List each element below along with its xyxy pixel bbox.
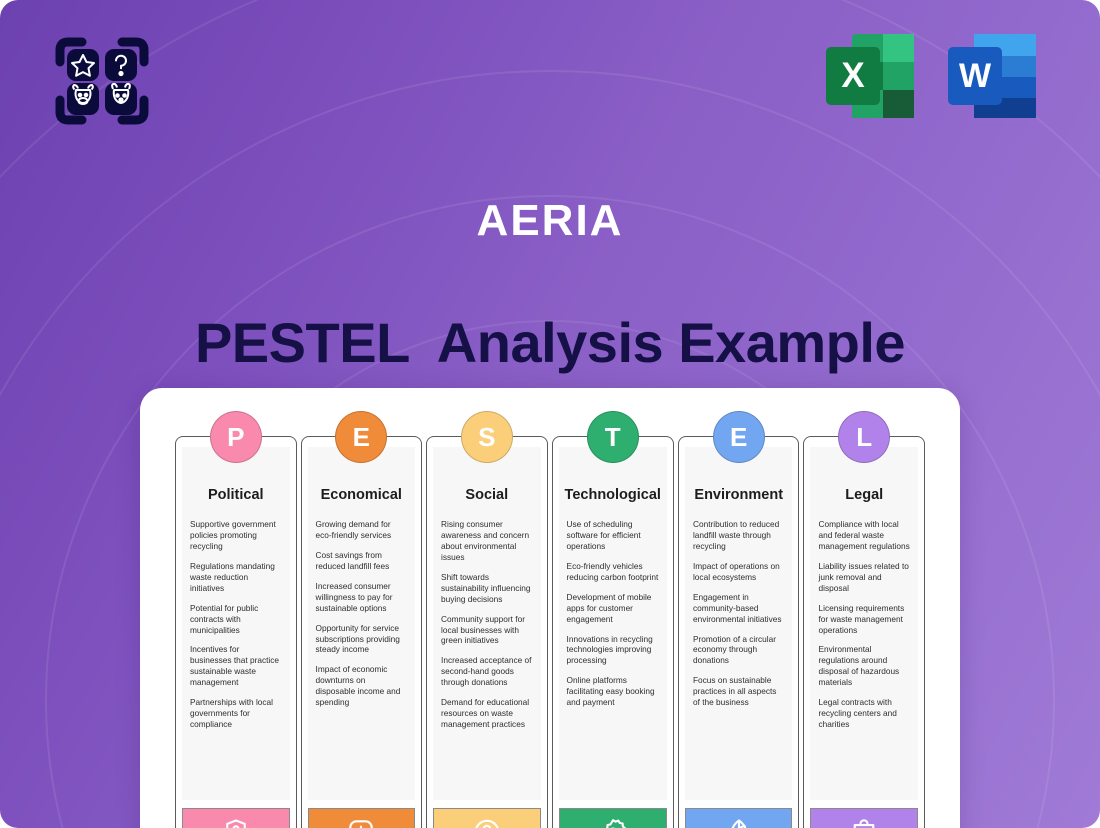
pestel-point: Cost savings from reduced landfill fees	[316, 550, 408, 572]
gear-icon	[598, 817, 628, 828]
pestel-point: Engagement in community-based environmen…	[693, 592, 785, 625]
page-title: PESTEL Analysis Example	[0, 310, 1100, 375]
pestel-column-environment[interactable]: EEnvironmentContribution to reduced land…	[678, 436, 800, 828]
pestel-column-body: SocialRising consumer awareness and conc…	[433, 447, 541, 800]
pestel-point: Innovations in recycling technologies im…	[567, 634, 659, 667]
pestel-point-list: Growing demand for eco-friendly services…	[314, 519, 410, 708]
pestel-column-body: PoliticalSupportive government policies …	[182, 447, 290, 800]
pestel-icon-tile-political[interactable]	[182, 808, 290, 828]
pestel-icon-tile-economical[interactable]	[308, 808, 416, 828]
pestel-column-social[interactable]: SSocialRising consumer awareness and con…	[426, 436, 548, 828]
pestel-point: Online platforms facilitating easy booki…	[567, 675, 659, 708]
pestel-point: Incentives for businesses that practice …	[190, 644, 282, 688]
pestel-column-title: Social	[439, 487, 535, 503]
leaf-icon	[724, 817, 754, 828]
pestel-column-title: Political	[188, 487, 284, 503]
briefcase-icon	[849, 817, 879, 828]
shield-person-icon	[221, 817, 251, 828]
pestel-column-body: LegalCompliance with local and federal w…	[810, 447, 918, 800]
aeria-logo[interactable]	[52, 32, 152, 130]
pestel-point: Liability issues related to junk removal…	[818, 561, 910, 594]
word-icon-glyph: W	[944, 30, 1044, 122]
svg-text:W: W	[959, 57, 992, 95]
letter-badge-e-1: E	[335, 411, 387, 463]
pestel-column-technological[interactable]: TTechnologicalUse of scheduling software…	[552, 436, 674, 828]
pestel-icon-tile-technological[interactable]	[559, 808, 667, 828]
pestel-icon-tile-legal[interactable]	[810, 808, 918, 828]
pestel-point: Environmental regulations around disposa…	[818, 644, 910, 688]
pestel-point: Contribution to reduced landfill waste t…	[693, 519, 785, 552]
pestel-point: Growing demand for eco-friendly services	[316, 519, 408, 541]
pestel-point: Use of scheduling software for efficient…	[567, 519, 659, 552]
pestel-column-economical[interactable]: EEconomicalGrowing demand for eco-friend…	[301, 436, 423, 828]
pestel-point: Rising consumer awareness and concern ab…	[441, 519, 533, 563]
pestel-point-list: Contribution to reduced landfill waste t…	[691, 519, 787, 708]
pestel-point: Eco-friendly vehicles reducing carbon fo…	[567, 561, 659, 583]
excel-icon-glyph: X	[822, 30, 922, 122]
pestel-point: Focus on sustainable practices in all as…	[693, 675, 785, 708]
pestel-point-list: Compliance with local and federal waste …	[816, 519, 912, 730]
pestel-point: Legal contracts with recycling centers a…	[818, 697, 910, 730]
excel-icon[interactable]: X	[822, 30, 922, 122]
pestel-point: Increased acceptance of second-hand good…	[441, 655, 533, 688]
brand-name: AERIA	[0, 196, 1100, 246]
letter-badge-s-2: S	[461, 411, 513, 463]
pestel-icon-tile-social[interactable]	[433, 808, 541, 828]
pestel-column-body: EnvironmentContribution to reduced landf…	[685, 447, 793, 800]
letter-badge-e-4: E	[713, 411, 765, 463]
pestel-point: Compliance with local and federal waste …	[818, 519, 910, 552]
user-circle-icon	[472, 817, 502, 828]
pestel-point: Opportunity for service subscriptions pr…	[316, 623, 408, 656]
letter-badge-p-0: P	[210, 411, 262, 463]
pestel-point: Impact of operations on local ecosystems	[693, 561, 785, 583]
screenshot-root: X W AERIA PESTEL Analysis Example PPolit…	[0, 0, 1100, 828]
pestel-point-list: Supportive government policies promoting…	[188, 519, 284, 730]
pestel-column-political[interactable]: PPoliticalSupportive government policies…	[175, 436, 297, 828]
pestel-column-title: Technological	[565, 487, 661, 503]
pestel-column-body: TechnologicalUse of scheduling software …	[559, 447, 667, 800]
pestel-point: Shift towards sustainability influencing…	[441, 572, 533, 605]
letter-badge-t-3: T	[587, 411, 639, 463]
pestel-point: Potential for public contracts with muni…	[190, 603, 282, 636]
letter-badge-l-5: L	[838, 411, 890, 463]
pestel-columns: PPoliticalSupportive government policies…	[175, 436, 925, 828]
pestel-column-title: Economical	[314, 487, 410, 503]
word-icon[interactable]: W	[944, 30, 1044, 122]
bar-chart-icon	[346, 817, 376, 828]
pestel-point-list: Use of scheduling software for efficient…	[565, 519, 661, 708]
pestel-icon-tile-environment[interactable]	[685, 808, 793, 828]
pestel-point: Development of mobile apps for customer …	[567, 592, 659, 625]
pestel-point: Licensing requirements for waste managem…	[818, 603, 910, 636]
pestel-point: Promotion of a circular economy through …	[693, 634, 785, 667]
pestel-point: Increased consumer willingness to pay fo…	[316, 581, 408, 614]
pestel-point-list: Rising consumer awareness and concern ab…	[439, 519, 535, 730]
pestel-point: Partnerships with local governments for …	[190, 697, 282, 730]
aeria-logo-icon	[52, 32, 152, 130]
pestel-column-legal[interactable]: LLegalCompliance with local and federal …	[803, 436, 925, 828]
pestel-column-body: EconomicalGrowing demand for eco-friendl…	[308, 447, 416, 800]
pestel-card: PPoliticalSupportive government policies…	[140, 388, 960, 828]
pestel-column-title: Environment	[691, 487, 787, 503]
svg-text:X: X	[841, 56, 865, 95]
pestel-point: Community support for local businesses w…	[441, 614, 533, 647]
pestel-point: Regulations mandating waste reduction in…	[190, 561, 282, 594]
pestel-point: Impact of economic downturns on disposab…	[316, 664, 408, 708]
pestel-point: Supportive government policies promoting…	[190, 519, 282, 552]
pestel-point: Demand for educational resources on wast…	[441, 697, 533, 730]
pestel-column-title: Legal	[816, 487, 912, 503]
